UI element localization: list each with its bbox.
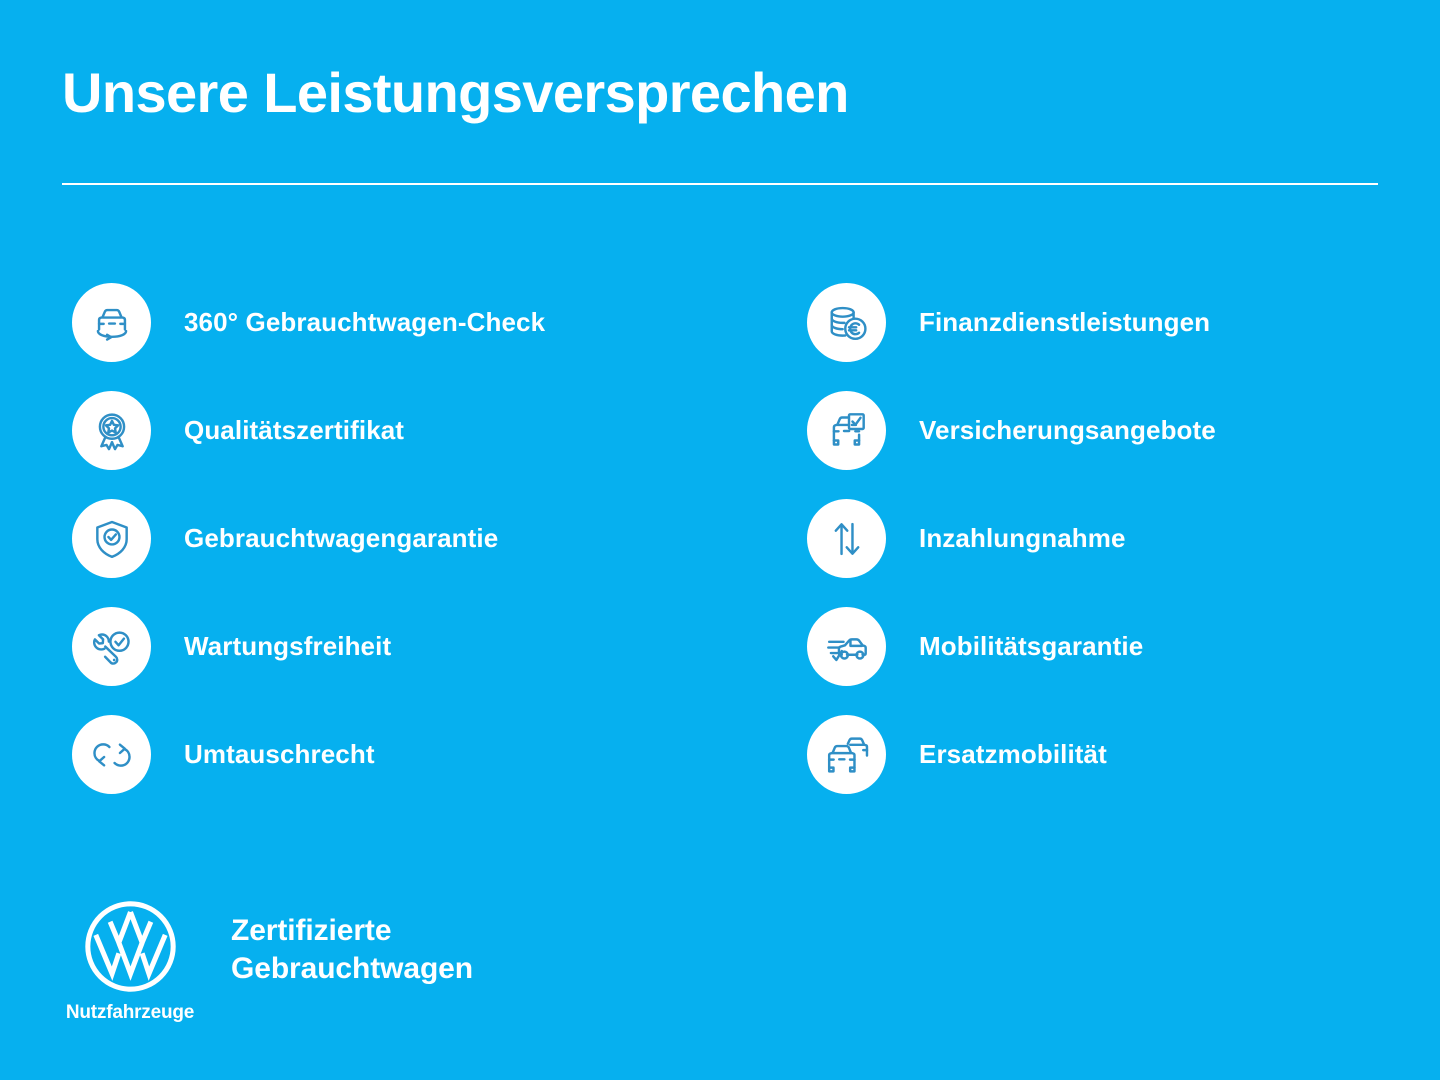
feature-label: Versicherungsangebote [919,415,1216,446]
shield-check-icon [72,499,151,578]
exchange-arrows-icon [72,715,151,794]
award-medal-icon [72,391,151,470]
feature-column-right: Finanzdienstleistungen [807,283,1372,794]
arrows-up-down-icon [807,499,886,578]
brand-claim-line2: Gebrauchtwagen [231,950,473,988]
vw-logo-icon [82,898,179,995]
feature-label: Ersatzmobilität [919,739,1107,770]
feature-item[interactable]: Ersatzmobilität [807,715,1372,794]
feature-item[interactable]: Inzahlungnahme [807,499,1372,578]
feature-item[interactable]: Umtauschrecht [72,715,807,794]
feature-label: Mobilitätsgarantie [919,631,1143,662]
feature-list: 360° Gebrauchtwagen-Check Qualitätszerti… [72,283,1372,794]
car-360-check-icon [72,283,151,362]
brand-mark: Nutzfahrzeuge [72,898,188,1024]
feature-item[interactable]: Mobilitätsgarantie [807,607,1372,686]
feature-label: Umtauschrecht [184,739,375,770]
feature-label: Gebrauchtwagengarantie [184,523,498,554]
feature-item[interactable]: Wartungsfreiheit [72,607,807,686]
feature-item[interactable]: Gebrauchtwagengarantie [72,499,807,578]
page-title: Unsere Leistungsversprechen [62,62,1378,125]
brand-claim: Zertifizierte Gebrauchtwagen [231,912,473,987]
header: Unsere Leistungsversprechen [62,62,1378,185]
feature-label: Inzahlungnahme [919,523,1126,554]
car-motion-check-icon [807,607,886,686]
feature-label: 360° Gebrauchtwagen-Check [184,307,545,338]
title-divider [62,183,1378,185]
brand-claim-line1: Zertifizierte [231,912,473,950]
two-cars-icon [807,715,886,794]
feature-column-left: 360° Gebrauchtwagen-Check Qualitätszerti… [72,283,807,794]
feature-item[interactable]: Finanzdienstleistungen [807,283,1372,362]
feature-item[interactable]: Qualitätszertifikat [72,391,807,470]
feature-item[interactable]: Versicherungsangebote [807,391,1372,470]
car-checkbox-icon [807,391,886,470]
brand-footer: Nutzfahrzeuge Zertifizierte Gebrauchtwag… [72,898,473,1024]
feature-label: Wartungsfreiheit [184,631,391,662]
coins-euro-icon [807,283,886,362]
feature-label: Finanzdienstleistungen [919,307,1210,338]
feature-item[interactable]: 360° Gebrauchtwagen-Check [72,283,807,362]
slide-root: Unsere Leistungsversprechen [0,0,1440,1080]
brand-subtitle: Nutzfahrzeuge [66,1002,194,1024]
feature-label: Qualitätszertifikat [184,415,404,446]
wrench-check-icon [72,607,151,686]
